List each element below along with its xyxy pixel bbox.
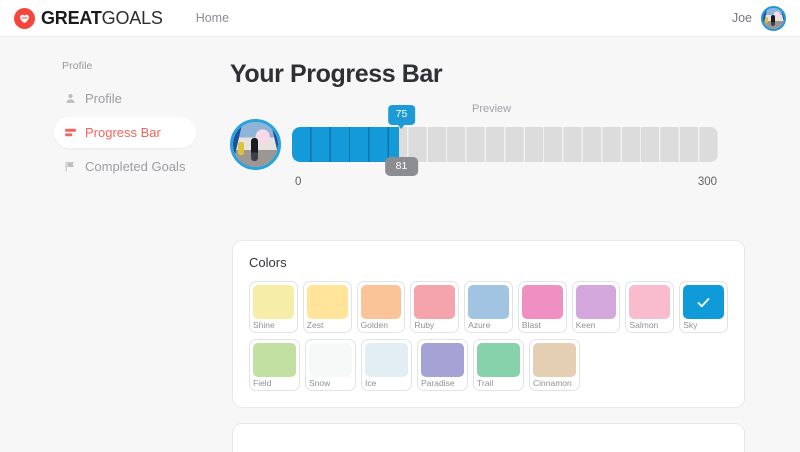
color-swatch-trail[interactable]: Trail [473,339,524,391]
color-swatch-grid: ShineZestGoldenRubyAzureBlastKeenSalmonS… [249,281,728,391]
check-icon [695,294,712,311]
page-title: Your Progress Bar [230,60,800,89]
nav-link-home[interactable]: Home [194,7,231,29]
sidebar-item-progress-bar[interactable]: Progress Bar [54,117,196,148]
preview-label: Preview [472,103,511,115]
color-swatch-field[interactable]: Field [249,339,300,391]
color-swatch-label: Paradise [421,377,464,390]
color-swatch-snow[interactable]: Snow [305,339,356,391]
color-chip [629,285,670,319]
color-swatch-zest[interactable]: Zest [303,281,352,333]
sidebar-item-label: Profile [85,91,122,106]
sidebar-item-label: Progress Bar [85,125,161,140]
sidebar-item-label: Completed Goals [85,159,185,174]
color-swatch-paradise[interactable]: Paradise [417,339,468,391]
color-swatch-ruby[interactable]: Ruby [410,281,459,333]
color-chip [421,343,464,377]
top-navbar: GREATGOALS Home Joe [0,0,800,37]
color-swatch-label: Field [253,377,296,390]
color-swatch-blast[interactable]: Blast [518,281,567,333]
nav-links: Home [194,7,231,29]
sidebar-item-completed-goals[interactable]: Completed Goals [54,151,196,182]
sidebar-item-profile[interactable]: Profile [54,83,196,114]
main-content: Your Progress Bar Preview 75 81 [218,37,800,452]
color-chip [365,343,408,377]
color-swatch-row: ShineZestGoldenRubyAzureBlastKeenSalmonS… [249,281,728,333]
color-swatch-cinnamon[interactable]: Cinnamon [529,339,580,391]
color-chip [576,285,617,319]
color-swatch-ice[interactable]: Ice [361,339,412,391]
progress-bar-track[interactable] [292,127,718,162]
heart-circle-icon [14,8,35,29]
color-swatch-label: Zest [307,319,348,332]
avatar[interactable] [761,6,786,31]
progress-widget: Preview 75 81 0 3 [230,119,730,192]
color-swatch-label: Trail [477,377,520,390]
color-swatch-label: Ice [365,377,408,390]
colors-card: Colors ShineZestGoldenRubyAzureBlastKeen… [232,240,745,408]
avatar-image [763,8,784,29]
color-chip [253,343,296,377]
secondary-card [232,423,745,452]
page-body: Profile Profile Progress Bar Completed G… [0,37,800,452]
color-swatch-sky[interactable]: Sky [679,281,728,333]
sidebar: Profile Profile Progress Bar Completed G… [0,37,218,452]
color-chip [414,285,455,319]
bars-icon [64,126,77,139]
color-swatch-label: Ruby [414,319,455,332]
color-swatch-label: Cinnamon [533,377,576,390]
progress-scale: 0 300 [292,176,718,192]
color-swatch-azure[interactable]: Azure [464,281,513,333]
color-chip [307,285,348,319]
color-chip [522,285,563,319]
color-swatch-label: Azure [468,319,509,332]
color-chip [683,285,724,319]
color-swatch-keen[interactable]: Keen [572,281,621,333]
color-swatch-label: Sky [683,319,724,332]
progress-slider-handle[interactable]: 81 [385,157,419,177]
progress-bar-wrap: 75 81 [292,127,730,162]
color-swatch-label: Keen [576,319,617,332]
brand-name-strong: GREAT [41,8,102,28]
color-chip [533,343,576,377]
progress-fill-segments [292,127,399,162]
colors-card-title: Colors [249,255,728,270]
progress-avatar [230,119,281,170]
color-swatch-shine[interactable]: Shine [249,281,298,333]
color-swatch-golden[interactable]: Golden [357,281,406,333]
scale-max-label: 300 [698,176,717,188]
sidebar-heading: Profile [0,60,218,72]
flag-icon [64,160,77,173]
progress-value-bubble: 75 [388,105,416,125]
color-swatch-label: Shine [253,319,294,332]
color-swatch-salmon[interactable]: Salmon [625,281,674,333]
scale-min-label: 0 [295,176,301,188]
brand-logo[interactable]: GREATGOALS [14,8,163,29]
nav-user-area: Joe [732,6,786,31]
person-icon [64,92,77,105]
progress-avatar-image [233,122,278,167]
progress-bar-fill [292,127,399,162]
color-chip [361,285,402,319]
color-swatch-label: Golden [361,319,402,332]
color-chip [477,343,520,377]
progress-row: 75 81 [230,119,730,170]
nav-user-name: Joe [732,11,752,25]
color-chip [309,343,352,377]
color-chip [253,285,294,319]
color-swatch-label: Blast [522,319,563,332]
color-swatch-row: FieldSnowIceParadiseTrailCinnamon [249,339,728,391]
color-chip [468,285,509,319]
color-swatch-label: Snow [309,377,352,390]
brand-name-light: GOALS [102,8,163,28]
color-swatch-label: Salmon [629,319,670,332]
